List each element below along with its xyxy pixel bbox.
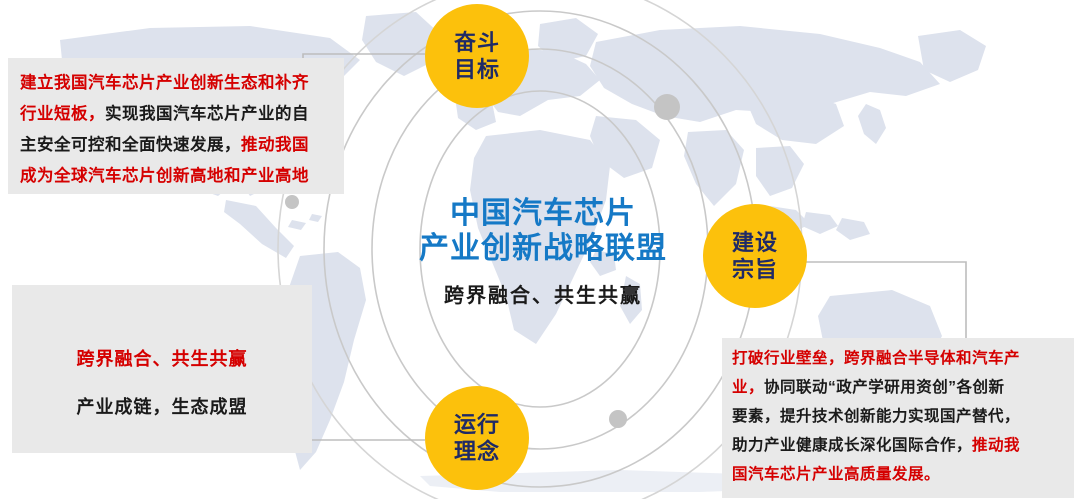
node-goal-line-2: 目标 [454,56,500,83]
panel-goal-line-1-seg-1: 建立我国汽车芯片产业创新生态和补齐 [20,74,309,92]
panel-purpose-line-4: 助力产业健康成长深化国际合作，推动我 [732,431,1066,460]
node-purpose-label: 建设 宗旨 [732,229,778,283]
center-brand-lockup: 中国汽车芯片 产业创新战略联盟 跨界融合、共生共赢 [378,196,708,308]
panel-goal-line-3-seg-1: 主安全可控和全面快速发展， [20,136,241,154]
panel-purpose-line-3: 要素，提升技术创新能力实现国产替代， [732,402,1066,431]
panel-purpose-line-2: 业，协同联动“政产学研用资创”各创新 [732,373,1066,402]
panel-purpose-line-1: 打破行业壁垒，跨界融合半导体和汽车产 [732,344,1066,373]
panel-goal-line-3-seg-2: 推动我国 [241,136,309,154]
node-purpose[interactable]: 建设 宗旨 [703,204,807,308]
panel-goal-line-3: 主安全可控和全面快速发展，推动我国 [20,130,334,161]
panel-goal-text: 建立我国汽车芯片产业创新生态和补齐 行业短板，实现我国汽车芯片产业的自 主安全可… [8,58,344,194]
node-goal-label: 奋斗 目标 [454,29,500,83]
panel-goal-line-2-seg-1: 行业短板， [20,105,105,123]
panel-purpose-text: 打破行业壁垒，跨界融合半导体和汽车产 业，协同联动“政产学研用资创”各创新 要素… [722,338,1074,498]
node-operating-line-1: 运行 [454,411,500,438]
node-goal[interactable]: 奋斗 目标 [425,4,529,108]
node-operating-line-2: 理念 [454,438,500,465]
panel-goal-line-2: 行业短板，实现我国汽车芯片产业的自 [20,99,334,130]
panel-purpose-line-5: 国汽车芯片产业高质量发展。 [732,460,1066,489]
panel-purpose-line-4-seg-1: 助力产业健康成长深化国际合作， [732,437,972,454]
panel-philosophy-line-2: 产业成链，生态成盟 [12,383,312,431]
slide-canvas: 建立我国汽车芯片产业创新生态和补齐 行业短板，实现我国汽车芯片产业的自 主安全可… [0,0,1080,499]
panel-goal-line-4-seg-1: 成为全球汽车芯片创新高地和产业高地 [20,167,309,185]
node-purpose-line-2: 宗旨 [732,256,778,283]
center-title: 中国汽车芯片 产业创新战略联盟 [378,196,708,266]
node-operating-label: 运行 理念 [454,411,500,465]
panel-purpose-line-2-seg-1: 业， [732,379,764,396]
node-operating[interactable]: 运行 理念 [425,386,529,490]
panel-purpose-line-4-seg-2: 推动我 [972,437,1020,454]
panel-goal-line-4: 成为全球汽车芯片创新高地和产业高地 [20,161,334,192]
node-purpose-line-1: 建设 [732,229,778,256]
panel-goal-line-1: 建立我国汽车芯片产业创新生态和补齐 [20,68,334,99]
node-goal-line-1: 奋斗 [454,29,500,56]
panel-philosophy-text: 跨界融合、共生共赢 产业成链，生态成盟 [12,285,312,453]
panel-purpose-line-5-seg-1: 国汽车芯片产业高质量发展。 [732,466,940,483]
center-subtitle: 跨界融合、共生共赢 [378,284,708,308]
panel-goal-line-2-seg-2: 实现我国汽车芯片产业的自 [105,105,309,123]
panel-purpose-line-2-seg-2: 协同联动“政产学研用资创”各创新 [764,379,1005,396]
panel-purpose-line-3-seg-1: 要素，提升技术创新能力实现国产替代， [732,408,1020,425]
panel-purpose-line-1-seg-1: 打破行业壁垒，跨界融合半导体和汽车产 [732,350,1020,367]
panel-philosophy-line-1: 跨界融合、共生共赢 [12,335,312,383]
center-title-line-1: 中国汽车芯片 [378,196,708,231]
center-title-line-2: 产业创新战略联盟 [378,231,708,266]
